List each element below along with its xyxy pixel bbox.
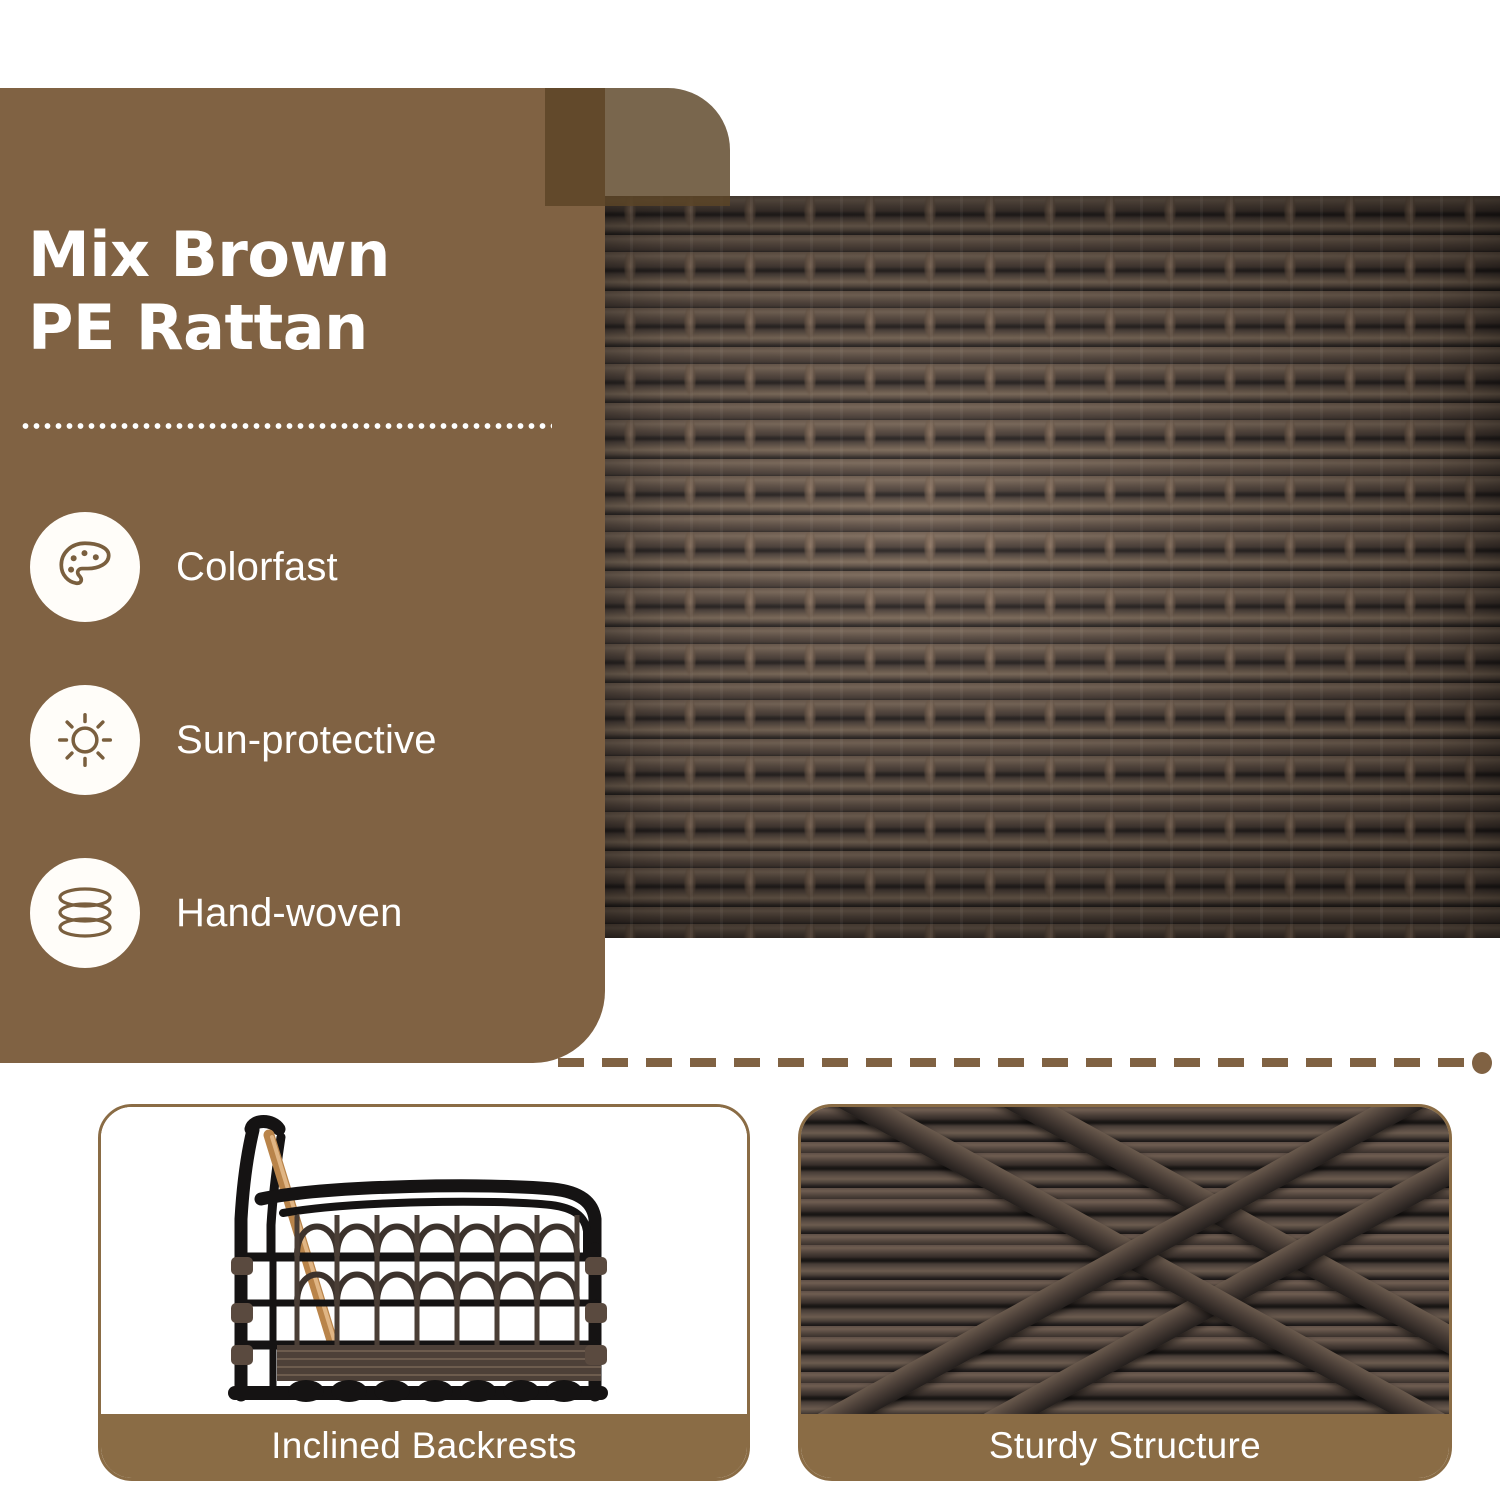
feature-label: Hand-woven <box>176 891 403 936</box>
feature-card-inclined-backrests: Inclined Backrests <box>98 1104 750 1481</box>
card-caption: Inclined Backrests <box>101 1414 747 1478</box>
hero-rattan-photo <box>600 196 1500 938</box>
brown-overlay-tab <box>545 88 730 206</box>
dotted-divider <box>20 422 552 430</box>
feature-list: Colorfast Sun-protective <box>30 512 550 968</box>
dashed-divider <box>558 1058 1470 1067</box>
title-line-2: PE Rattan <box>28 291 548 364</box>
palette-icon <box>30 512 140 622</box>
rattan-x-brace-photo <box>801 1107 1449 1414</box>
divider-end-dot <box>1472 1052 1492 1074</box>
feature-card-sturdy-structure: Sturdy Structure <box>798 1104 1452 1481</box>
page-title: Mix Brown PE Rattan <box>28 218 548 364</box>
chair-illustration <box>101 1107 747 1414</box>
feature-item-sun-protective: Sun-protective <box>30 685 550 795</box>
sun-icon <box>30 685 140 795</box>
feature-label: Sun-protective <box>176 718 437 763</box>
feature-item-colorfast: Colorfast <box>30 512 550 622</box>
title-line-1: Mix Brown <box>28 218 390 291</box>
rattan-weave-texture <box>801 1107 1449 1414</box>
feature-item-hand-woven: Hand-woven <box>30 858 550 968</box>
chair-side-view-photo <box>101 1107 747 1414</box>
card-caption: Sturdy Structure <box>801 1414 1449 1478</box>
coil-weave-icon <box>30 858 140 968</box>
feature-label: Colorfast <box>176 545 338 590</box>
